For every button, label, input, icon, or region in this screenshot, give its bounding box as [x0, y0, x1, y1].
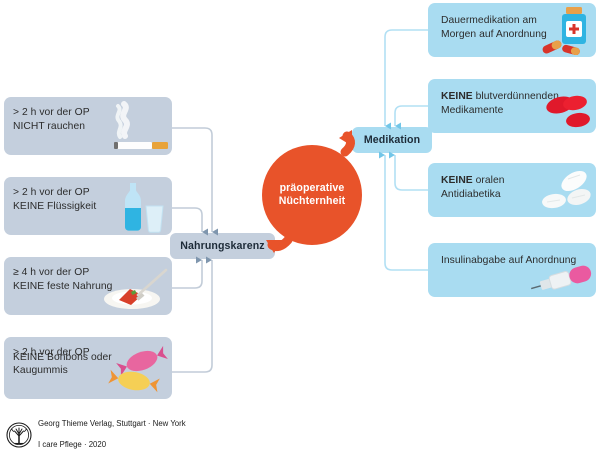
arrow-to-nahrungskarenz [266, 240, 288, 253]
arrow-to-medikation [339, 130, 352, 152]
center-arrows [0, 0, 600, 442]
infographic-canvas: > 2 h vor der OP NICHT rauchen > 2 h vor… [0, 0, 600, 442]
